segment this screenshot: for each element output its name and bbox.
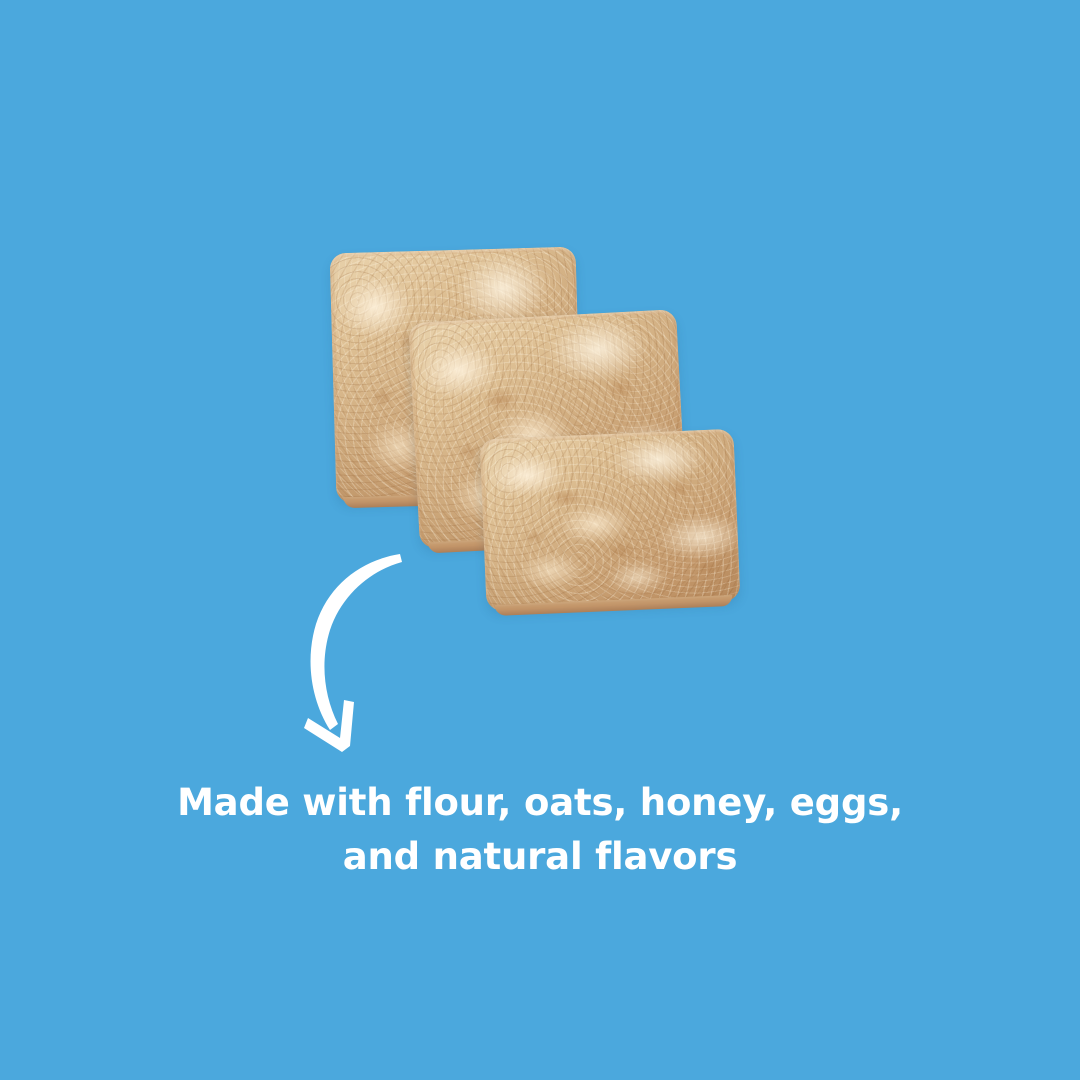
caption-line-1: Made with flour, oats, honey, eggs, — [0, 776, 1080, 830]
curved-arrow-icon — [280, 540, 440, 760]
ingredient-caption: Made with flour, oats, honey, eggs, and … — [0, 776, 1080, 884]
cracker-front-small — [480, 429, 741, 611]
arrow-shaft — [311, 554, 402, 730]
caption-line-2: and natural flavors — [0, 830, 1080, 884]
product-callout-canvas: Made with flour, oats, honey, eggs, and … — [0, 0, 1080, 1080]
cracker-stack — [0, 0, 1080, 1080]
